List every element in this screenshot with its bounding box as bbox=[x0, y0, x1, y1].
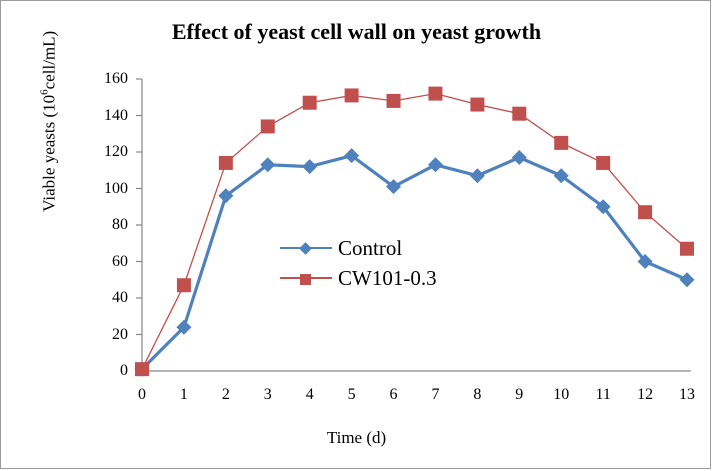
y-axis-tick-label: 0 bbox=[94, 363, 128, 379]
y-axis-ticks bbox=[136, 79, 142, 371]
diamond-marker bbox=[428, 157, 443, 172]
series-cw101-0-3 bbox=[135, 87, 694, 377]
x-axis-tick-label: 8 bbox=[462, 387, 492, 403]
x-axis-tick-label: 9 bbox=[504, 387, 534, 403]
x-axis-tick-label: 4 bbox=[295, 387, 325, 403]
square-marker bbox=[428, 87, 442, 101]
x-axis-tick-label: 3 bbox=[253, 387, 283, 403]
axes bbox=[136, 79, 691, 371]
x-axis-tick-label: 11 bbox=[588, 387, 618, 403]
x-axis-tick-label: 10 bbox=[546, 387, 576, 403]
square-marker bbox=[261, 119, 275, 133]
square-marker bbox=[554, 136, 568, 150]
x-axis-tick-label: 13 bbox=[672, 387, 702, 403]
x-axis-tick-label: 7 bbox=[420, 387, 450, 403]
x-axis-tick-label: 1 bbox=[169, 387, 199, 403]
square-marker bbox=[512, 107, 526, 121]
x-axis-tick-label: 12 bbox=[630, 387, 660, 403]
square-marker bbox=[387, 94, 401, 108]
data-series-group bbox=[135, 87, 695, 377]
diamond-marker bbox=[470, 168, 485, 183]
y-axis-tick-label: 40 bbox=[94, 290, 128, 306]
legend-key-cw101 bbox=[280, 271, 332, 285]
square-marker bbox=[680, 242, 694, 256]
x-axis-tick-label: 2 bbox=[211, 387, 241, 403]
series-line bbox=[142, 94, 687, 370]
diamond-marker bbox=[512, 150, 527, 165]
square-marker bbox=[638, 205, 652, 219]
y-axis-tick-label: 140 bbox=[94, 108, 128, 124]
diamond-marker bbox=[680, 272, 695, 287]
y-axis-tick-label: 20 bbox=[94, 327, 128, 343]
chart-figure: Effect of yeast cell wall on yeast growt… bbox=[0, 0, 711, 469]
y-axis-tick-label: 60 bbox=[94, 254, 128, 270]
x-axis-tick-label: 0 bbox=[127, 387, 157, 403]
legend-label-cw101: CW101-0.3 bbox=[338, 268, 437, 289]
chart-legend: Control CW101-0.3 bbox=[280, 233, 437, 293]
y-axis-tick-label: 120 bbox=[94, 144, 128, 160]
square-marker bbox=[596, 156, 610, 170]
square-marker bbox=[135, 362, 149, 376]
legend-item-control[interactable]: Control bbox=[280, 233, 437, 263]
square-marker bbox=[219, 156, 233, 170]
square-marker-icon bbox=[300, 274, 311, 285]
square-marker bbox=[345, 88, 359, 102]
diamond-marker-icon bbox=[299, 242, 312, 255]
legend-item-cw101[interactable]: CW101-0.3 bbox=[280, 263, 437, 293]
legend-key-control bbox=[280, 241, 332, 255]
x-axis-tick-label: 6 bbox=[379, 387, 409, 403]
legend-label-control: Control bbox=[338, 238, 402, 259]
square-marker bbox=[470, 98, 484, 112]
diamond-marker bbox=[302, 159, 317, 174]
square-marker bbox=[303, 96, 317, 110]
square-marker bbox=[177, 278, 191, 292]
y-axis-tick-label: 100 bbox=[94, 181, 128, 197]
y-axis-tick-label: 80 bbox=[94, 217, 128, 233]
x-axis-tick-label: 5 bbox=[337, 387, 367, 403]
y-axis-tick-label: 160 bbox=[94, 71, 128, 87]
